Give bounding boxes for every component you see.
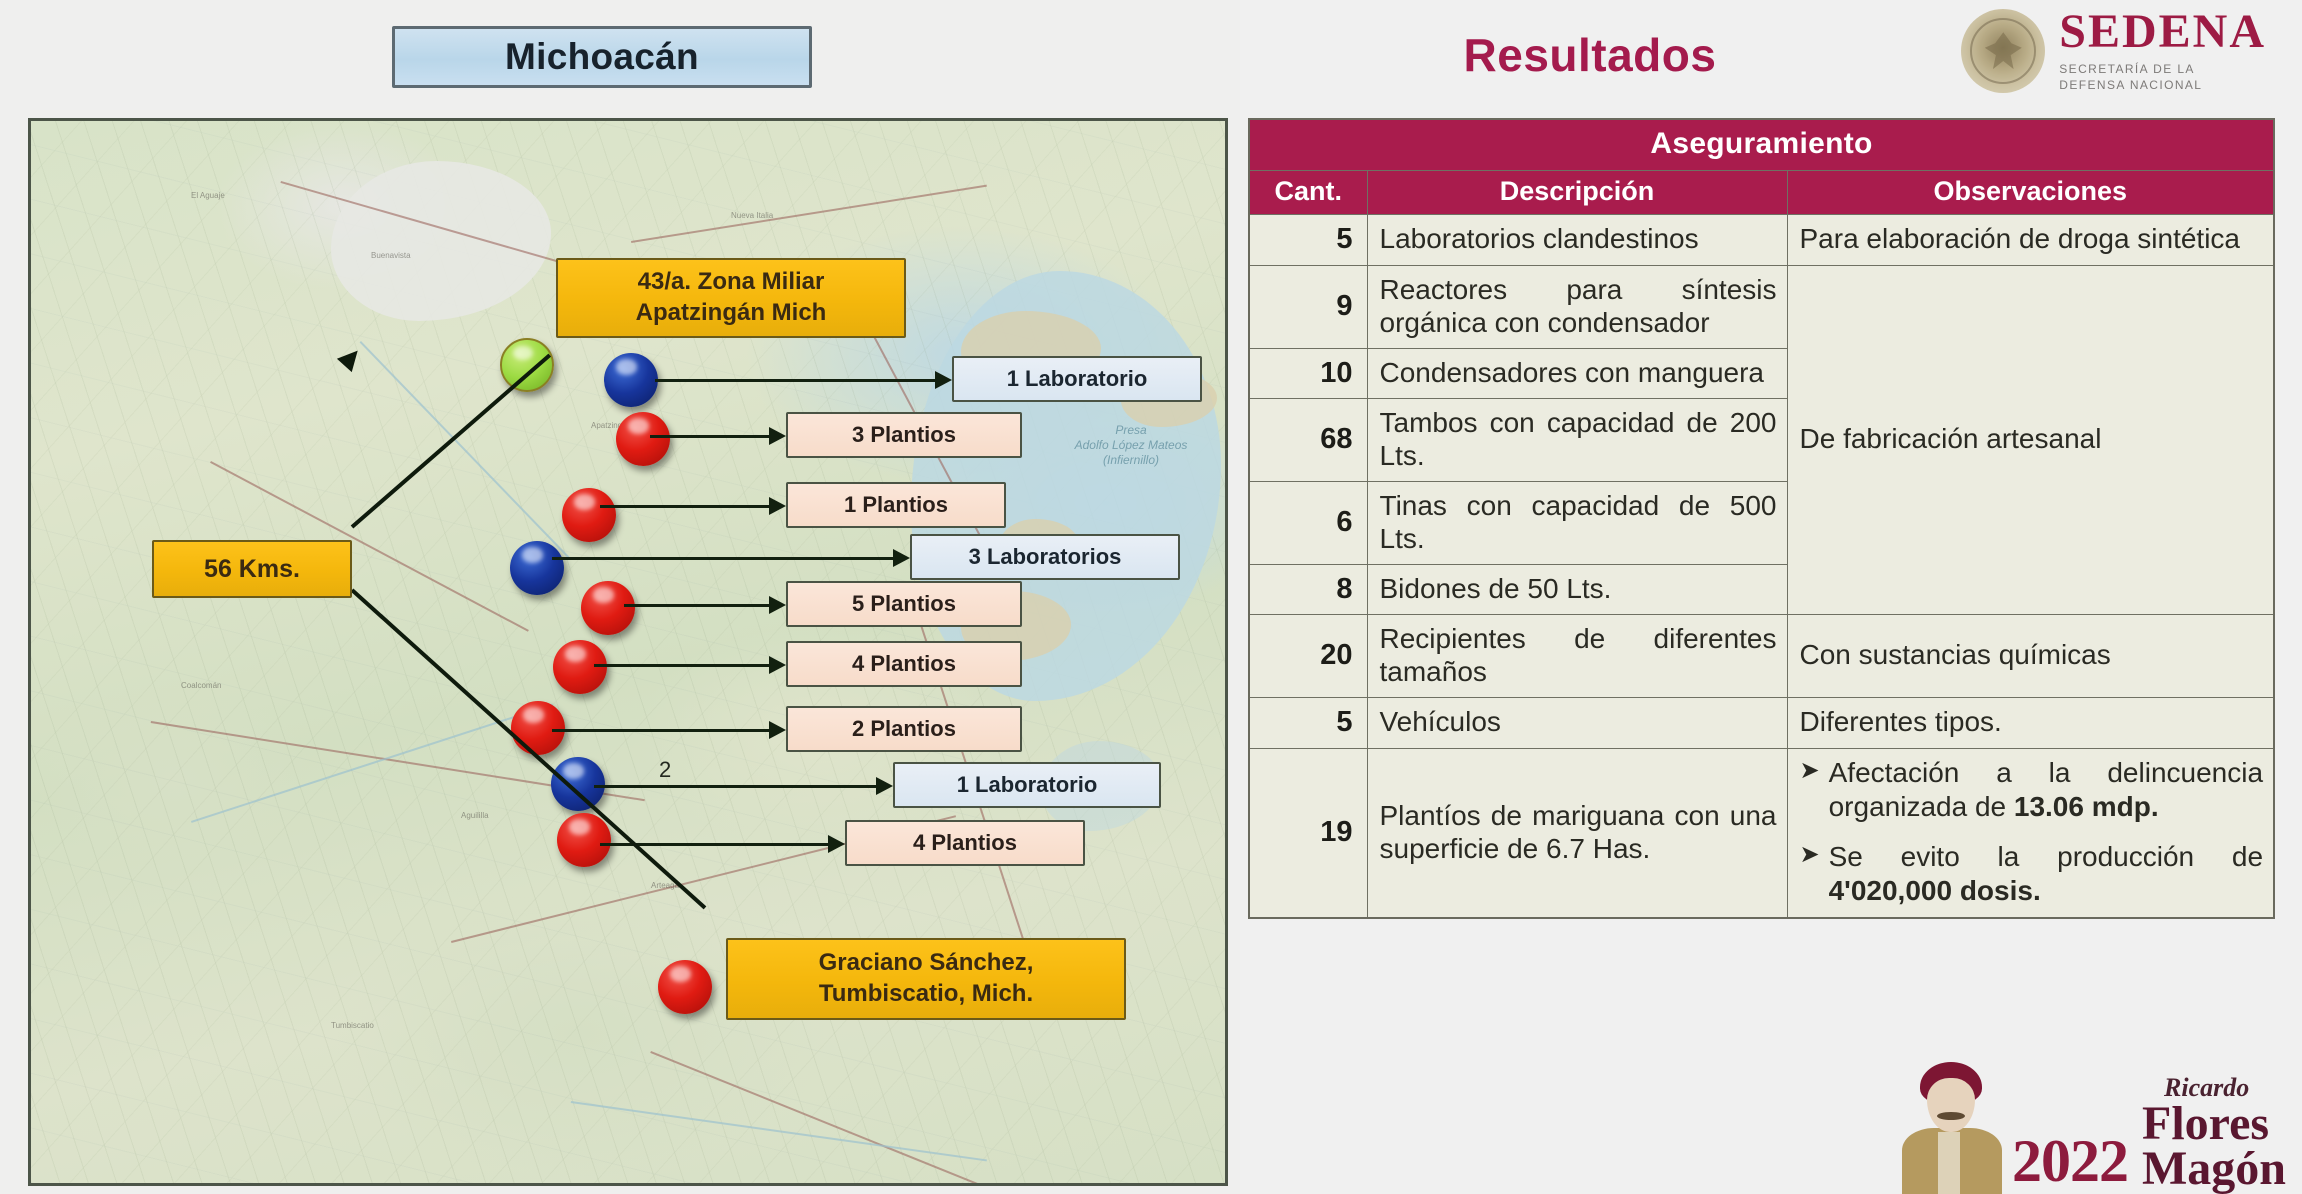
cell-observaciones: Con sustancias químicas: [1787, 614, 2274, 697]
cell-descripcion: Tinas con capacidad de 500 Lts.: [1367, 481, 1787, 564]
results-table: Aseguramiento Cant. Descripción Observac…: [1248, 118, 2275, 919]
sedena-name: SEDENA: [2059, 8, 2266, 56]
callout-arrow-head: [769, 656, 786, 674]
sedena-subtitle-line1: SECRETARÍA DE LA: [2059, 61, 2266, 77]
map-callout-label: 2 Plantios: [852, 716, 956, 742]
cell-observaciones: Para elaboración de droga sintética: [1787, 215, 2274, 266]
observation-bullet-emphasis: 4'020,000 dosis.: [1829, 875, 2041, 906]
cell-cantidad: 9: [1249, 265, 1367, 348]
national-seal-icon: [1961, 9, 2045, 93]
table-banner-row: Aseguramiento: [1249, 119, 2274, 171]
column-header-cant: Cant.: [1249, 171, 1367, 215]
watermark-last-name-1: Flores: [2142, 1101, 2269, 1147]
map-town-label: El Aguaje: [191, 191, 225, 200]
map-callout-plant: 5 Plantios: [786, 581, 1022, 627]
table-header-row: Cant. Descripción Observaciones: [1249, 171, 2274, 215]
map-callout-plant: 3 Plantios: [786, 412, 1022, 458]
table-row: 9Reactores para síntesis orgánica con co…: [1249, 265, 2274, 348]
map-marker-red: [616, 412, 670, 466]
callout-arrow-line: [594, 785, 877, 788]
map-callout-label: 3 Plantios: [852, 422, 956, 448]
cell-descripcion: Reactores para síntesis orgánica con con…: [1367, 265, 1787, 348]
map-marker-red: [553, 640, 607, 694]
distance-box: 56 Kms.: [152, 540, 352, 598]
map-callout-label: 1 Plantios: [844, 492, 948, 518]
cell-cantidad: 68: [1249, 398, 1367, 481]
watermark-year: 2022: [2012, 1133, 2128, 1190]
callout-arrow-line: [650, 435, 770, 438]
map-callout-label: 5 Plantios: [852, 591, 956, 617]
callout-arrow-head: [828, 835, 845, 853]
map-marker-blue: [510, 541, 564, 595]
cell-cantidad: 8: [1249, 564, 1367, 614]
map-town-label: Nueva Italia: [731, 211, 773, 220]
callout-arrow-head: [769, 596, 786, 614]
callout-arrow-head: [893, 549, 910, 567]
bullet-arrow-icon: ➤: [1800, 840, 1820, 908]
distance-label: 56 Kms.: [204, 553, 300, 585]
table-row: 5VehículosDiferentes tipos.: [1249, 697, 2274, 748]
commemorative-watermark: 2022 Ricardo Flores Magón: [1812, 1044, 2292, 1194]
cell-cantidad: 10: [1249, 348, 1367, 398]
map-panel: Michoacán El Aguaje Buenavista Nueva Ita…: [0, 0, 1240, 1194]
observation-bullet-text: Se evito la producción de 4'020,000 dosi…: [1829, 840, 2263, 908]
map-callout-lab: 1 Laboratorio: [893, 762, 1161, 808]
callout-arrow-line: [624, 604, 770, 607]
table-banner: Aseguramiento: [1249, 119, 2274, 171]
table-row: 19Plantíos de mariguana con una superfic…: [1249, 748, 2274, 918]
cell-descripcion: Plantíos de mariguana con una superficie…: [1367, 748, 1787, 918]
callout-arrow-head: [935, 371, 952, 389]
sedena-wordmark: SEDENA SECRETARÍA DE LA DEFENSA NACIONAL: [2059, 8, 2266, 93]
results-panel: Resultados SEDENA SECRETARÍA DE LA DEFEN…: [1240, 0, 2302, 1194]
table-row: 5Laboratorios clandestinosPara elaboraci…: [1249, 215, 2274, 266]
column-header-observaciones: Observaciones: [1787, 171, 2274, 215]
location-box: Graciano Sánchez, Tumbiscatio, Mich.: [726, 938, 1126, 1020]
map-town-label: Buenavista: [371, 251, 411, 260]
callout-arrow-line: [600, 505, 770, 508]
table-body: 5Laboratorios clandestinosPara elaboraci…: [1249, 215, 2274, 919]
sedena-logo: SEDENA SECRETARÍA DE LA DEFENSA NACIONAL: [1961, 8, 2266, 93]
callout-arrow-line: [552, 557, 894, 560]
callout-arrow-head: [769, 497, 786, 515]
callout-arrow-head: [769, 427, 786, 445]
watermark-last-name-2: Magón: [2142, 1146, 2286, 1192]
observation-bullet: ➤Se evito la producción de 4'020,000 dos…: [1800, 840, 2264, 908]
observation-bullet-emphasis: 13.06 mdp.: [2014, 791, 2159, 822]
map-marker-red: [658, 960, 712, 1014]
map-reservoir-label: Presa Adolfo López Mateos (Infiernillo): [1046, 423, 1216, 468]
cell-descripcion: Bidones de 50 Lts.: [1367, 564, 1787, 614]
cell-cantidad: 20: [1249, 614, 1367, 697]
page-title: Resultados: [1240, 28, 1940, 82]
map-town-label: Tumbiscatio: [331, 1021, 374, 1030]
cell-cantidad: 5: [1249, 215, 1367, 266]
map-marker-red: [511, 701, 565, 755]
cell-observaciones: Diferentes tipos.: [1787, 697, 2274, 748]
map-town-label: Coalcomán: [181, 681, 221, 690]
map-marker-blue: [604, 353, 658, 407]
map-callout-plant: 4 Plantios: [786, 641, 1022, 687]
cell-cantidad: 6: [1249, 481, 1367, 564]
map-callout-label: 3 Laboratorios: [969, 544, 1122, 570]
location-line2: Tumbiscatio, Mich.: [819, 979, 1033, 1010]
cell-cantidad: 19: [1249, 748, 1367, 918]
cell-observaciones: ➤Afectación a la delincuencia organizada…: [1787, 748, 2274, 918]
cell-descripcion: Recipientes de diferentes tamaños: [1367, 614, 1787, 697]
cell-descripcion: Tambos con capacidad de 200 Lts.: [1367, 398, 1787, 481]
location-line1: Graciano Sánchez,: [819, 948, 1034, 979]
map-callout-lab: 1 Laboratorio: [952, 356, 1202, 402]
map-callout-label: 1 Laboratorio: [957, 772, 1098, 798]
cell-descripcion: Condensadores con manguera: [1367, 348, 1787, 398]
map-callout-lab: 3 Laboratorios: [910, 534, 1180, 580]
map-callout-label: 4 Plantios: [852, 651, 956, 677]
map-callout-plant: 4 Plantios: [845, 820, 1085, 866]
state-title-label: Michoacán: [505, 36, 699, 78]
military-zone-box: 43/a. Zona Miliar Apatzingán Mich: [556, 258, 906, 338]
bullet-arrow-icon: ➤: [1800, 756, 1820, 824]
observation-bullet-text: Afectación a la delincuencia organizada …: [1829, 756, 2263, 824]
state-title-box: Michoacán: [392, 26, 812, 88]
cell-cantidad: 5: [1249, 697, 1367, 748]
map-marker-blue: [551, 757, 605, 811]
map-callout-plant: 1 Plantios: [786, 482, 1006, 528]
callout-arrow-line: [594, 664, 770, 667]
map-callout-label: 1 Laboratorio: [1007, 366, 1148, 392]
map-callout-plant: 2 Plantios: [786, 706, 1022, 752]
callout-arrow-head: [769, 721, 786, 739]
map-town-label: Aguililla: [461, 811, 489, 820]
map-marker-red: [581, 581, 635, 635]
map-marker-count-label: 2: [659, 757, 671, 783]
callout-arrow-line: [655, 379, 936, 382]
callout-arrow-head: [876, 777, 893, 795]
watermark-name: Ricardo Flores Magón: [2142, 1075, 2286, 1192]
map-marker-green: [500, 338, 554, 392]
map-marker-red: [562, 488, 616, 542]
military-zone-line2: Apatzingán Mich: [636, 298, 827, 329]
sedena-subtitle-line2: DEFENSA NACIONAL: [2059, 77, 2266, 93]
ricardo-flores-magon-portrait-icon: [1890, 1054, 2012, 1194]
military-zone-line1: 43/a. Zona Miliar: [638, 267, 825, 298]
column-header-descripcion: Descripción: [1367, 171, 1787, 215]
sedena-subtitle: SECRETARÍA DE LA DEFENSA NACIONAL: [2059, 61, 2266, 93]
cell-descripcion: Laboratorios clandestinos: [1367, 215, 1787, 266]
cell-observaciones: De fabricación artesanal: [1787, 265, 2274, 614]
callout-arrow-line: [552, 729, 770, 732]
observation-bullet: ➤Afectación a la delincuencia organizada…: [1800, 756, 2264, 824]
cell-descripcion: Vehículos: [1367, 697, 1787, 748]
map-marker-red: [557, 813, 611, 867]
table-row: 20Recipientes de diferentes tamañosCon s…: [1249, 614, 2274, 697]
map-callout-label: 4 Plantios: [913, 830, 1017, 856]
